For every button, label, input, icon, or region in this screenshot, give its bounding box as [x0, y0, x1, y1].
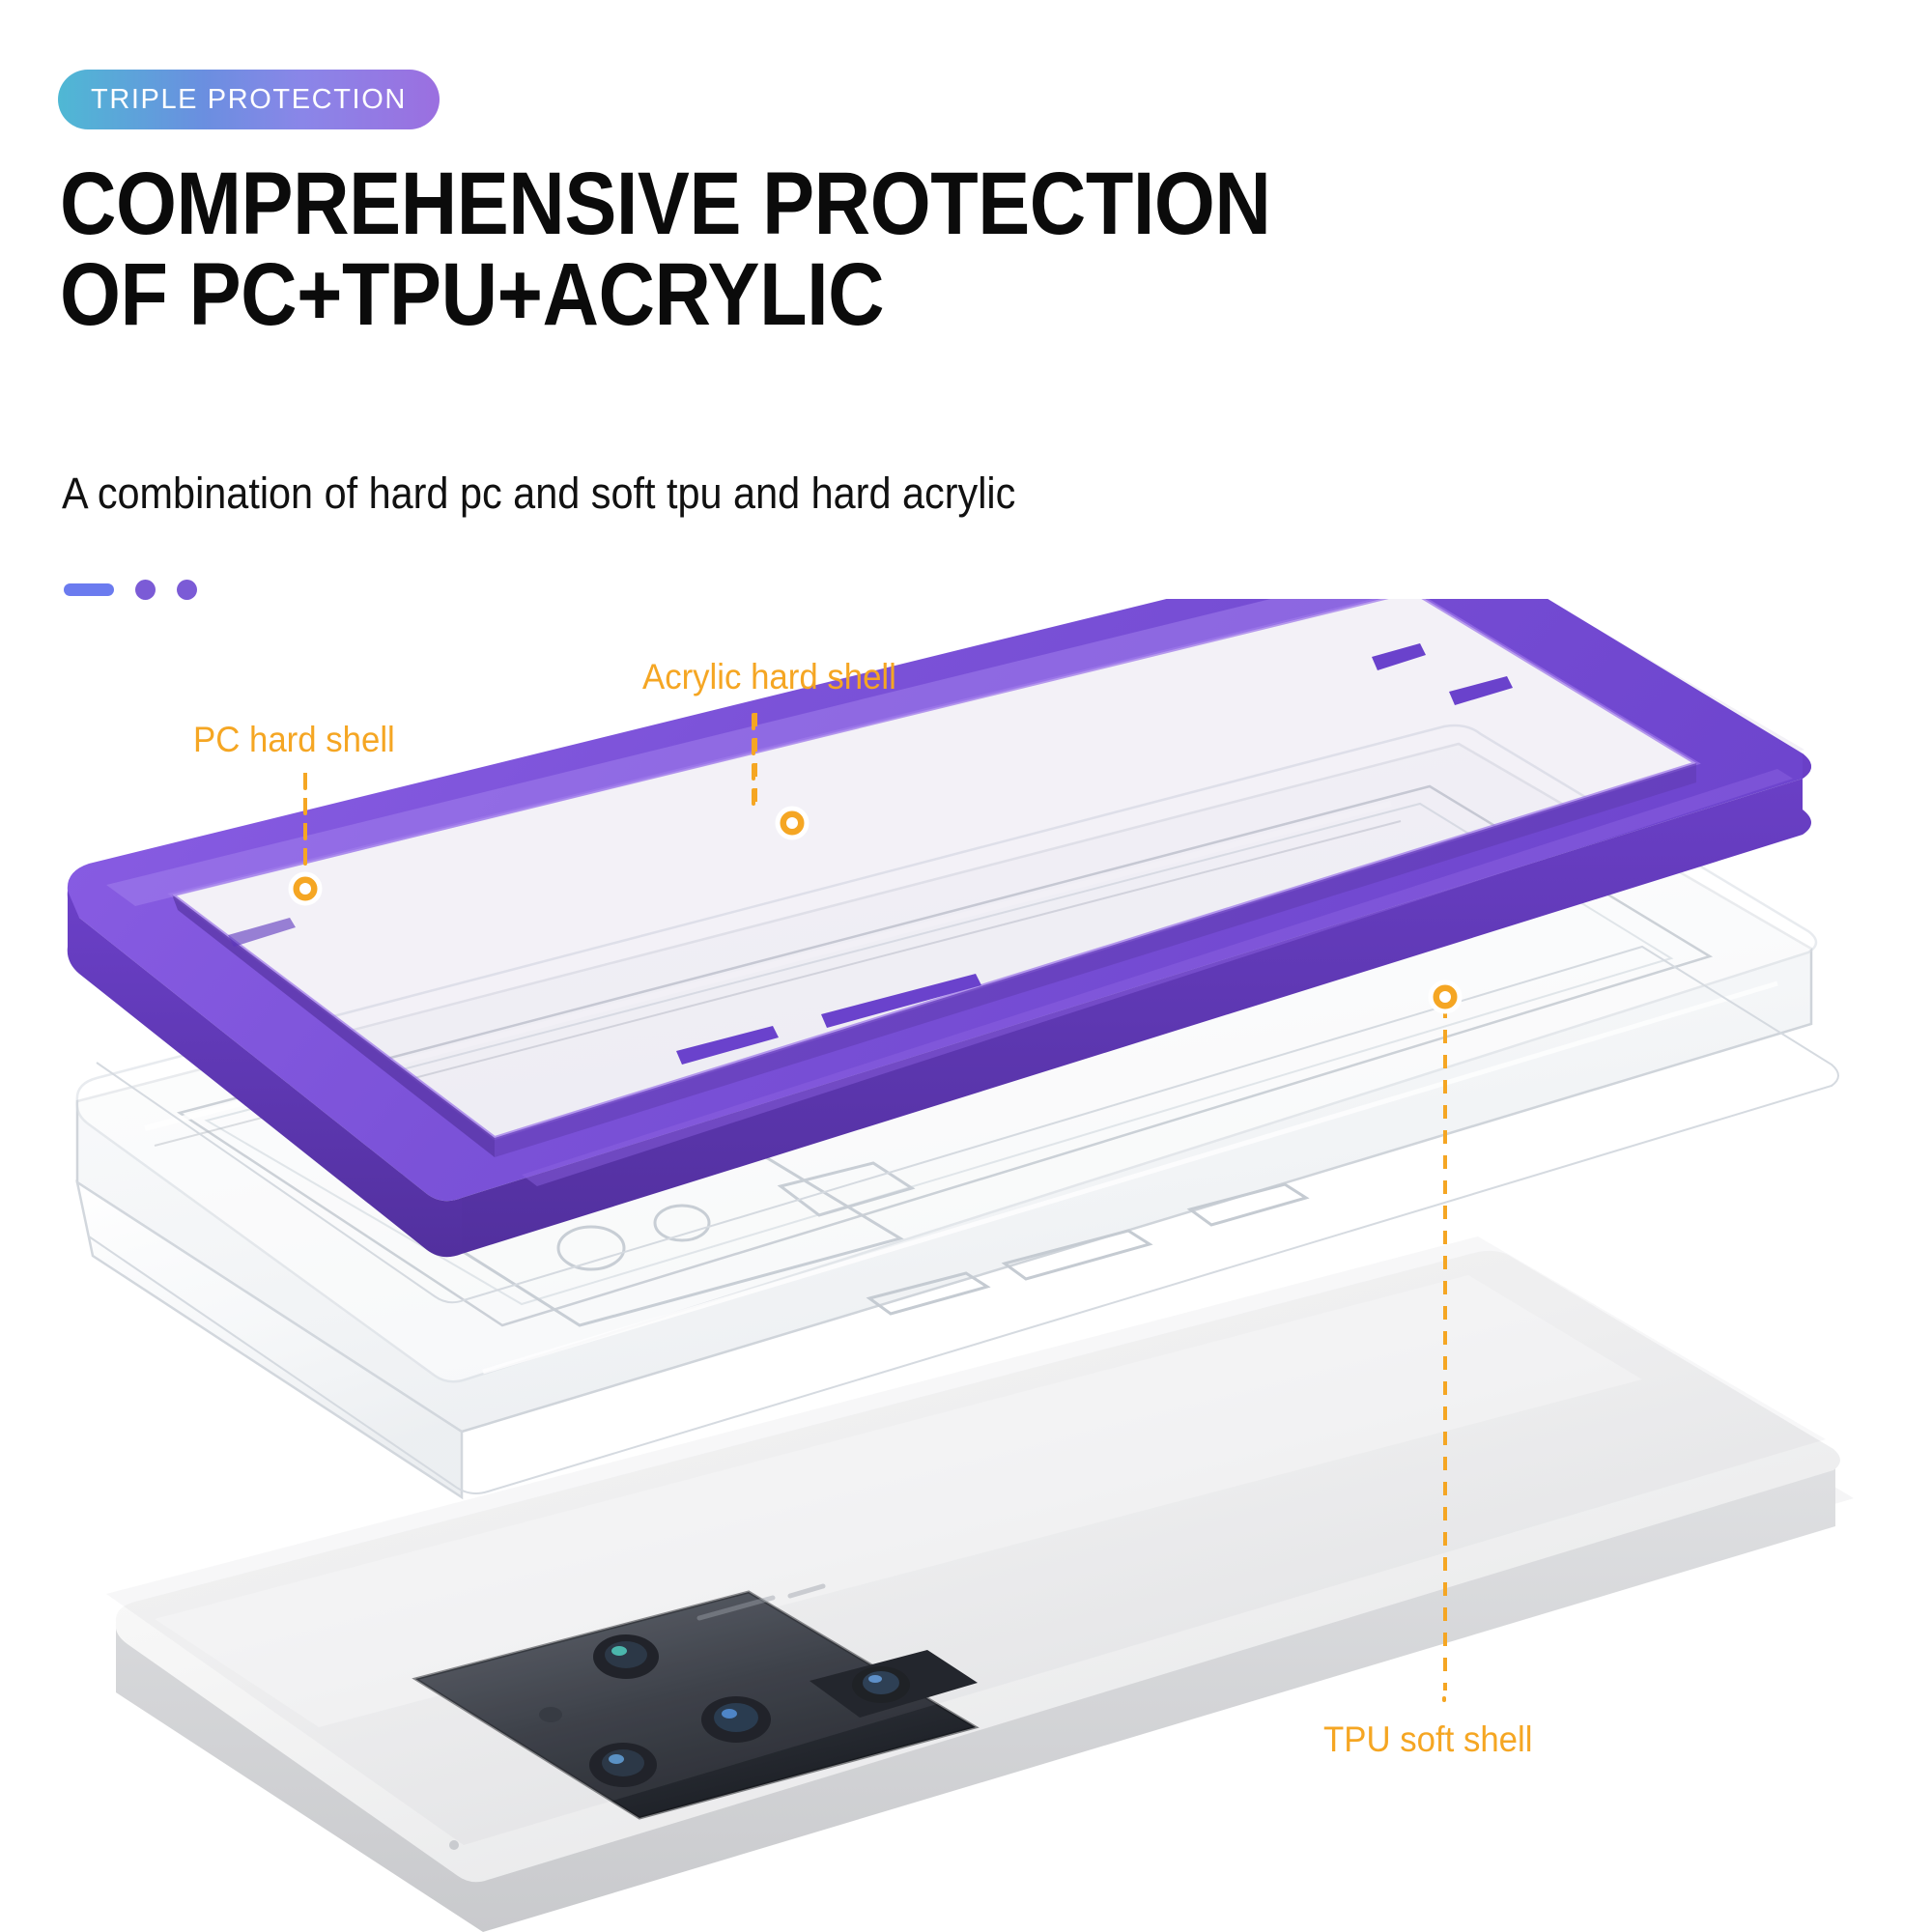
dot-indicator-icon-2[interactable] [177, 580, 197, 600]
dash-indicator-icon[interactable] [64, 583, 114, 596]
infographic-canvas: TRIPLE PROTECTION COMPREHENSIVE PROTECTI… [0, 0, 1932, 1932]
pagination-indicator [64, 580, 197, 600]
callout-label-acrylic-hard-shell: Acrylic hard shell [642, 657, 896, 697]
badge-label: TRIPLE PROTECTION [91, 84, 407, 116]
triple-protection-badge: TRIPLE PROTECTION [58, 70, 440, 129]
exploded-product-illustration [0, 599, 1932, 1932]
page-subtitle: A combination of hard pc and soft tpu an… [62, 469, 1015, 519]
callout-label-tpu-soft-shell: TPU soft shell [1323, 1719, 1532, 1760]
callout-label-pc-hard-shell: PC hard shell [193, 720, 395, 760]
dot-indicator-icon-1[interactable] [135, 580, 156, 600]
page-title: COMPREHENSIVE PROTECTION OF PC+TPU+ACRYL… [60, 159, 1590, 341]
